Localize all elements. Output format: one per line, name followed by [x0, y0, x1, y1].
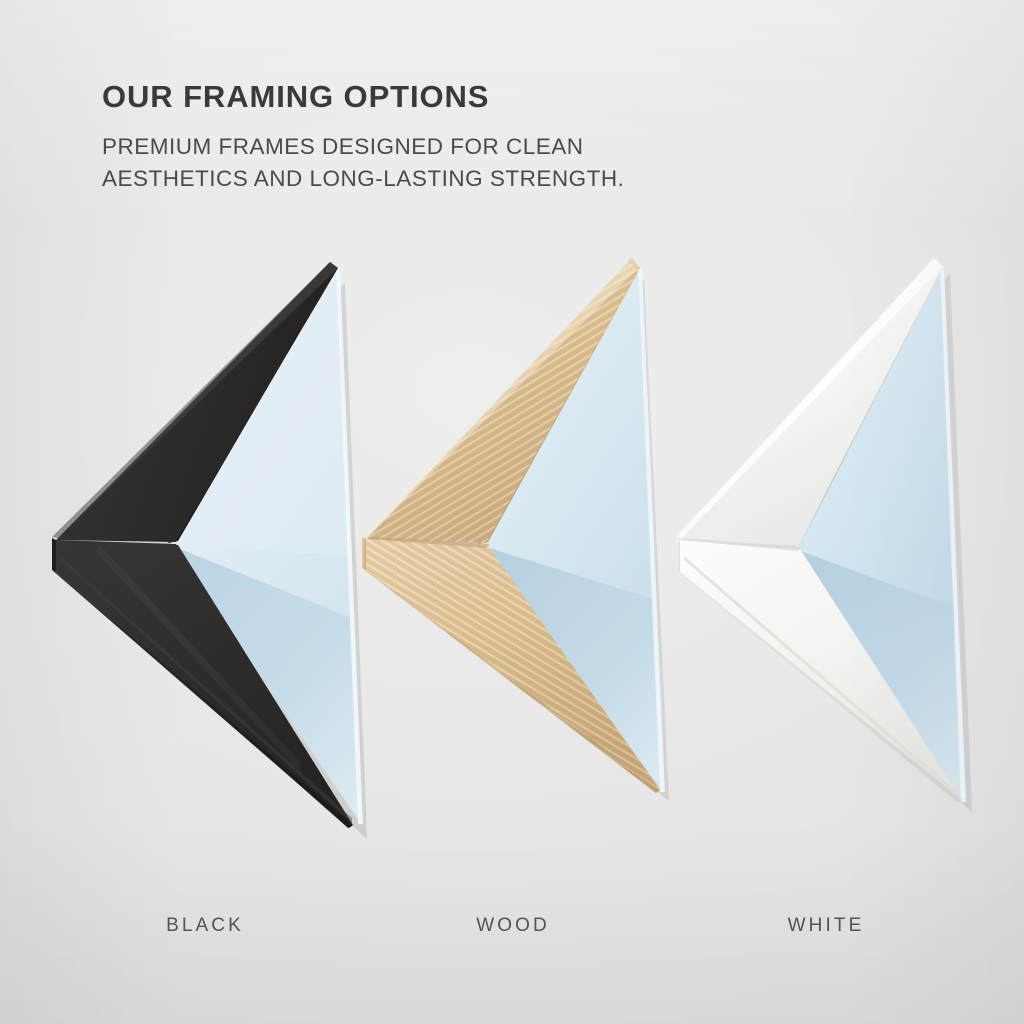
frame-label-white: WHITE	[696, 915, 956, 937]
header-block: OUR FRAMING OPTIONS PREMIUM FRAMES DESIG…	[102, 80, 624, 195]
frame-label-wood: WOOD	[383, 915, 643, 937]
page-subtitle: PREMIUM FRAMES DESIGNED FOR CLEAN AESTHE…	[102, 131, 624, 195]
framing-options-poster: OUR FRAMING OPTIONS PREMIUM FRAMES DESIG…	[0, 0, 1024, 1024]
frame-black-depth-left	[52, 538, 56, 572]
frame-label-black: BLACK	[75, 915, 335, 937]
page-subtitle-line-2: AESTHETICS AND LONG-LASTING STRENGTH.	[102, 163, 624, 195]
page-title: OUR FRAMING OPTIONS	[102, 80, 624, 114]
frame-white-illustration	[640, 0, 1024, 860]
page-subtitle-line-1: PREMIUM FRAMES DESIGNED FOR CLEAN	[102, 131, 624, 163]
frame-white-depth-left	[676, 538, 680, 572]
